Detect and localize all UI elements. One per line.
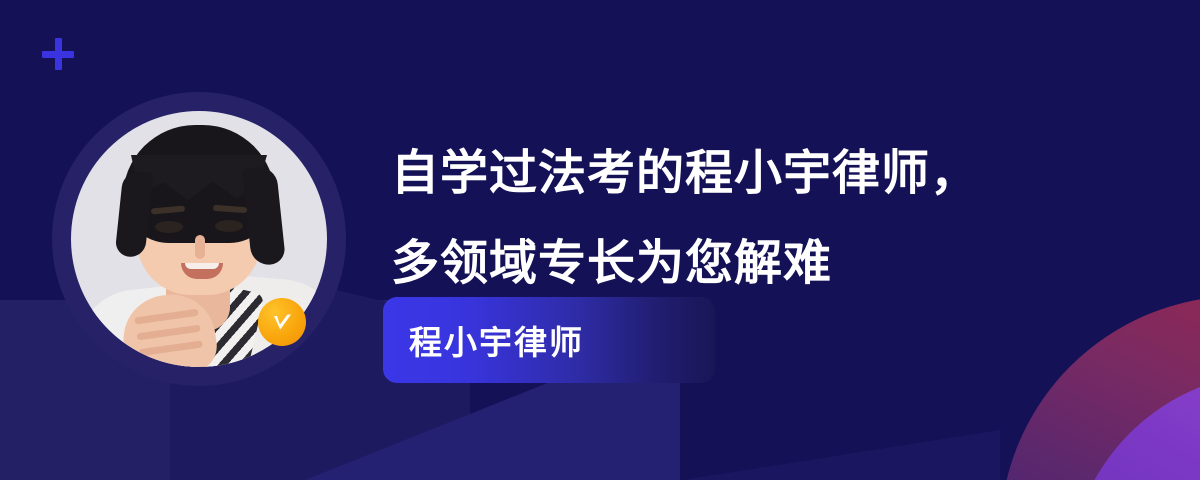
portrait-eye-left <box>155 221 183 233</box>
page-title: 自学过法考的程小宇律师， 多领域专长为您解难 <box>391 128 1091 308</box>
lawyer-name-button[interactable]: 程小宇律师 <box>383 297 715 383</box>
lawyer-promo-banner: 自学过法考的程小宇律师， 多领域专长为您解难 程小宇律师 <box>0 0 1200 480</box>
portrait-teeth <box>185 263 219 269</box>
background-blob-crimson <box>1000 296 1200 480</box>
background-wedge-lower-right <box>620 430 1000 480</box>
background-blob-purple <box>1068 372 1200 480</box>
portrait-eye-right <box>215 220 243 232</box>
portrait-nose <box>195 235 205 259</box>
verified-check-icon <box>258 298 306 346</box>
avatar <box>52 92 346 386</box>
plus-icon <box>42 38 74 70</box>
